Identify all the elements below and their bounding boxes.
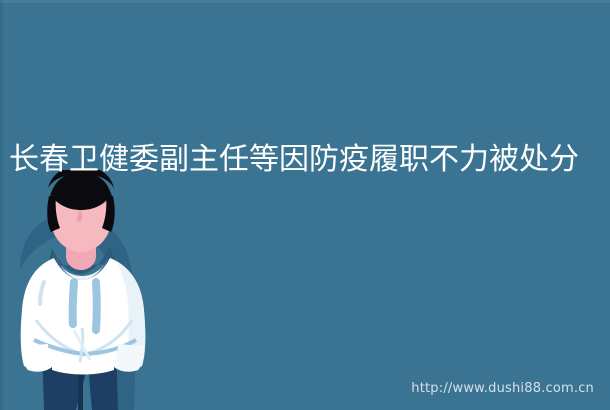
news-banner: 长春卫健委副主任等因防疫履职不力被处分 http://www.dushi88.c…	[0, 0, 610, 410]
site-watermark: http://www.dushi88.com.cn	[411, 381, 594, 396]
person-illustration	[0, 170, 160, 410]
drawstring-right	[96, 282, 97, 330]
top-edge-seam	[0, 0, 610, 3]
cuff-right	[114, 344, 144, 372]
headline-text: 长春卫健委副主任等因防疫履职不力被处分	[9, 141, 609, 179]
drawstring-left	[73, 282, 74, 324]
cuff-left	[22, 344, 52, 372]
